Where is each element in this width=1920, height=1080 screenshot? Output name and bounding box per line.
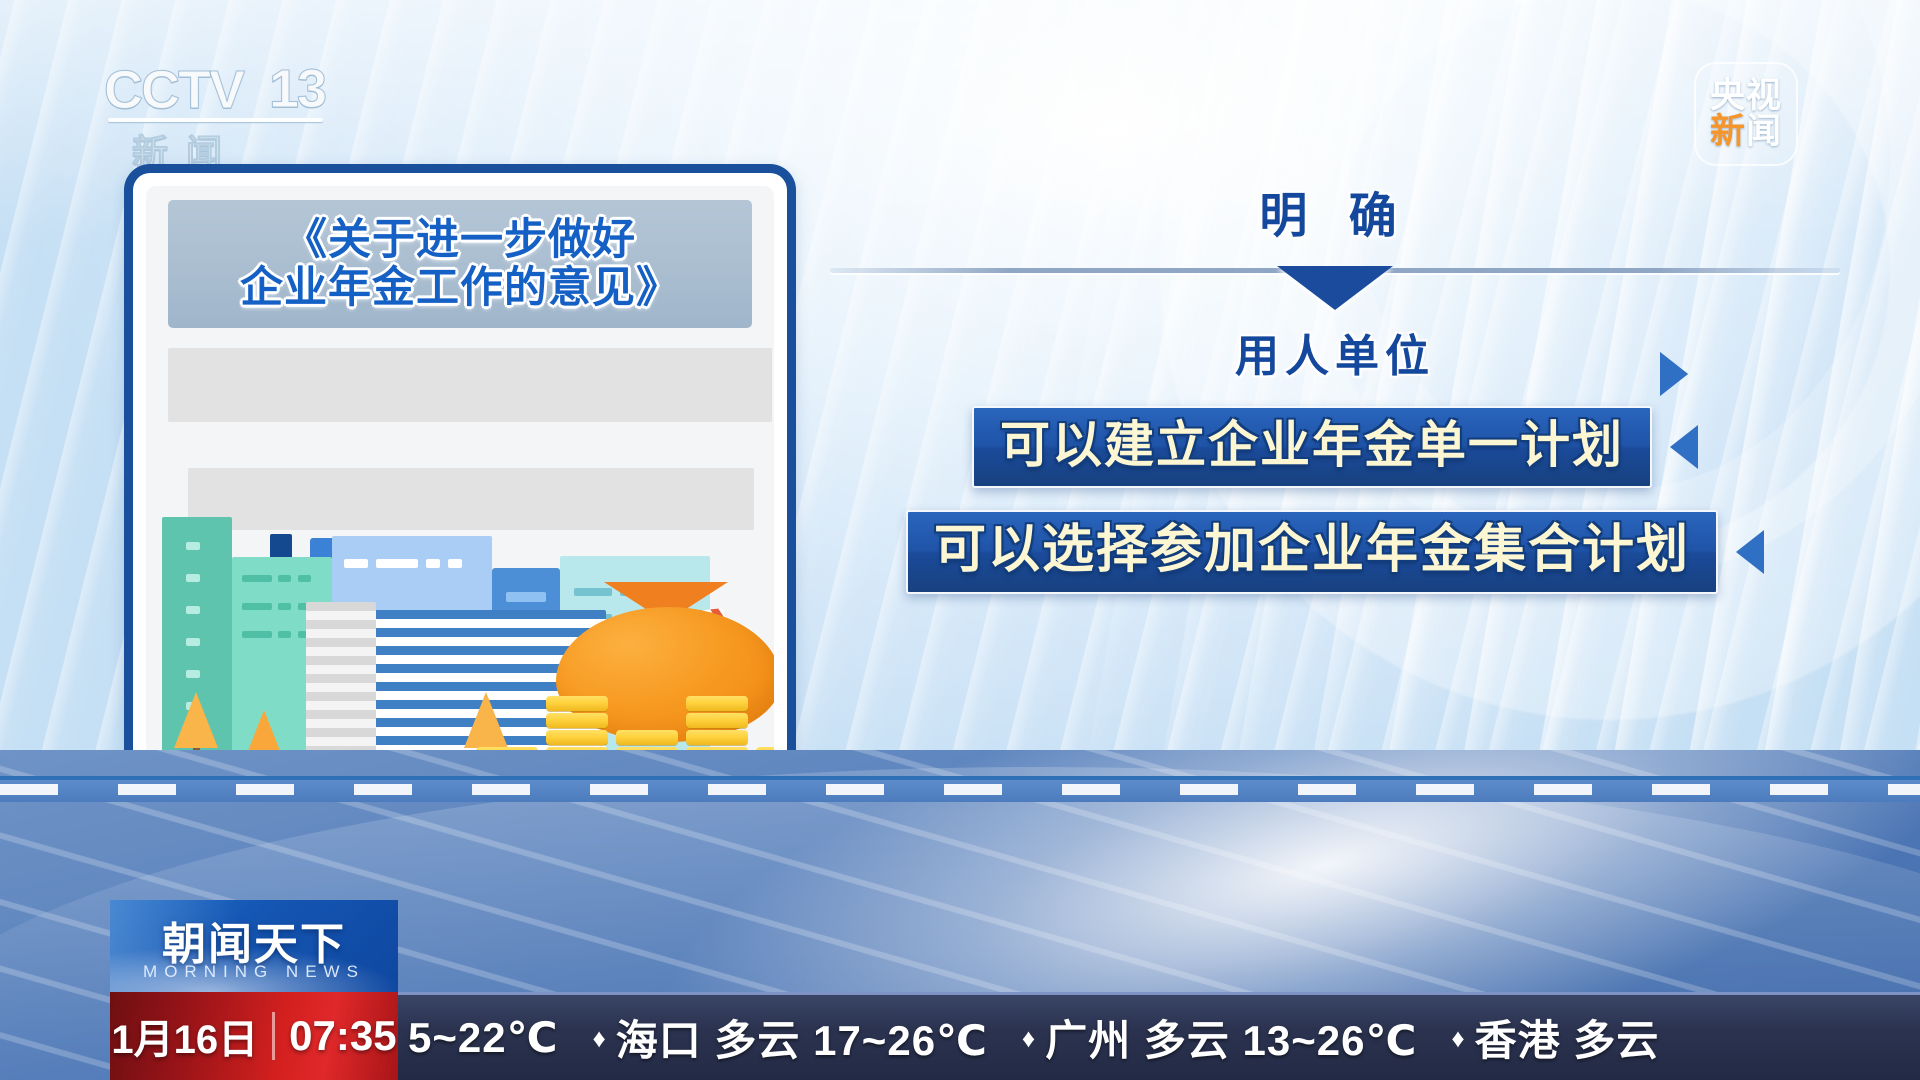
- building-window: [506, 592, 546, 602]
- building-window: [278, 575, 291, 582]
- arrow-left-icon: [1736, 530, 1764, 574]
- point-bar-2: 可以选择参加企业年金集合计划: [906, 510, 1718, 594]
- document-text-block: [168, 348, 772, 422]
- date-time-bar: 1月16日 07:35: [110, 992, 398, 1080]
- document-body: [146, 336, 774, 790]
- building-window: [344, 559, 368, 568]
- watermark-line-2: 新闻: [1710, 115, 1782, 149]
- coin: [686, 696, 748, 711]
- building-window: [186, 606, 200, 614]
- building-window: [298, 575, 311, 582]
- lower-third-chyron: 朝闻天下 MORNING NEWS 1月16日 07:35 5~22℃ ♦ 海口…: [110, 900, 1920, 1080]
- coin: [546, 713, 608, 728]
- building-window: [278, 603, 291, 610]
- building-window: [242, 575, 272, 582]
- building-window: [186, 670, 200, 678]
- point-row-2: 可以选择参加企业年金集合计划: [830, 510, 1840, 594]
- coin: [546, 730, 608, 745]
- weather-item-text: 海口 多云 17~26℃: [616, 1007, 988, 1068]
- cctv-logo-number: 13: [255, 58, 333, 122]
- point-row-1: 可以建立企业年金单一计划: [830, 406, 1840, 488]
- weather-ticker-content: 5~22℃ ♦ 海口 多云 17~26℃ ♦ 广州 多云 13~26℃ ♦ 香港…: [398, 1007, 1659, 1068]
- building-window: [278, 631, 291, 638]
- arrow-right-icon: [1660, 352, 1688, 396]
- cctv-news-watermark: 央视 新闻: [1694, 62, 1798, 166]
- current-date: 1月16日: [111, 1007, 258, 1065]
- coin: [686, 730, 748, 745]
- watermark-char-orange: 新: [1710, 112, 1746, 151]
- document-panel: 《关于进一步做好 企业年金工作的意见》: [124, 164, 796, 812]
- coin: [546, 696, 608, 711]
- cctv-logo-row: CCTV 13: [104, 58, 344, 122]
- weather-item-text: 香港 多云: [1475, 1007, 1660, 1068]
- weather-item: ♦ 香港 多云: [1451, 1007, 1659, 1068]
- weather-ticker: 5~22℃ ♦ 海口 多云 17~26℃ ♦ 广州 多云 13~26℃ ♦ 香港…: [398, 992, 1920, 1080]
- watermark-line-1: 央视: [1710, 79, 1782, 113]
- date-time-separator: [272, 1012, 275, 1060]
- building-window: [376, 559, 418, 568]
- diamond-bullet-icon: ♦: [1022, 1025, 1035, 1051]
- point-bar-1-text: 可以建立企业年金单一计划: [1000, 417, 1624, 473]
- diamond-bullet-icon: ♦: [592, 1025, 605, 1051]
- point-bar-1: 可以建立企业年金单一计划: [972, 406, 1652, 488]
- arrow-left-icon: [1670, 425, 1698, 469]
- building-striped: [306, 602, 376, 762]
- section-headline: 明 确: [830, 176, 1840, 246]
- broadcast-screen: CCTV 13 新闻 央视 新闻 《关于进一步做好 企业年金工作的意见》: [0, 0, 1920, 1080]
- building-window: [186, 574, 200, 582]
- document-title-line2: 企业年金工作的意见》: [240, 265, 680, 311]
- content-panel: 明 确 用人单位 可以建立企业年金单一计划 可以选择参加企业年金集合计划: [830, 176, 1840, 594]
- building-window: [242, 603, 272, 610]
- current-time: 07:35: [289, 1012, 396, 1060]
- document-title-line1: 《关于进一步做好: [284, 217, 636, 263]
- section-subtitle: 用人单位: [830, 320, 1840, 384]
- weather-item: ♦ 广州 多云 13~26℃: [1022, 1007, 1417, 1068]
- building-window: [186, 542, 200, 550]
- city-illustration: [146, 430, 774, 790]
- building-window: [448, 559, 462, 568]
- headline-divider-group: [830, 260, 1840, 300]
- program-logo: 朝闻天下 MORNING NEWS: [110, 900, 398, 992]
- weather-partial-entry: 5~22℃: [408, 1013, 558, 1062]
- coin: [616, 730, 678, 745]
- coin: [686, 713, 748, 728]
- building-window: [186, 638, 200, 646]
- weather-item-text: 广州 多云 13~26℃: [1045, 1007, 1417, 1068]
- building-window: [426, 559, 440, 568]
- road-dashes: [0, 784, 1920, 795]
- cctv-logo-text: CCTV: [104, 59, 243, 121]
- document-panel-inner: 《关于进一步做好 企业年金工作的意见》: [140, 180, 780, 796]
- cctv13-logo: CCTV 13 新闻: [104, 58, 344, 166]
- weather-item: ♦ 海口 多云 17~26℃: [592, 1007, 987, 1068]
- watermark-char-white: 闻: [1746, 112, 1782, 151]
- building-window: [242, 631, 272, 638]
- document-title-block: 《关于进一步做好 企业年金工作的意见》: [168, 200, 752, 328]
- chevron-down-icon: [1277, 266, 1393, 310]
- program-title-en: MORNING NEWS: [110, 962, 398, 982]
- point-bar-2-text: 可以选择参加企业年金集合计划: [934, 521, 1690, 579]
- diamond-bullet-icon: ♦: [1451, 1025, 1464, 1051]
